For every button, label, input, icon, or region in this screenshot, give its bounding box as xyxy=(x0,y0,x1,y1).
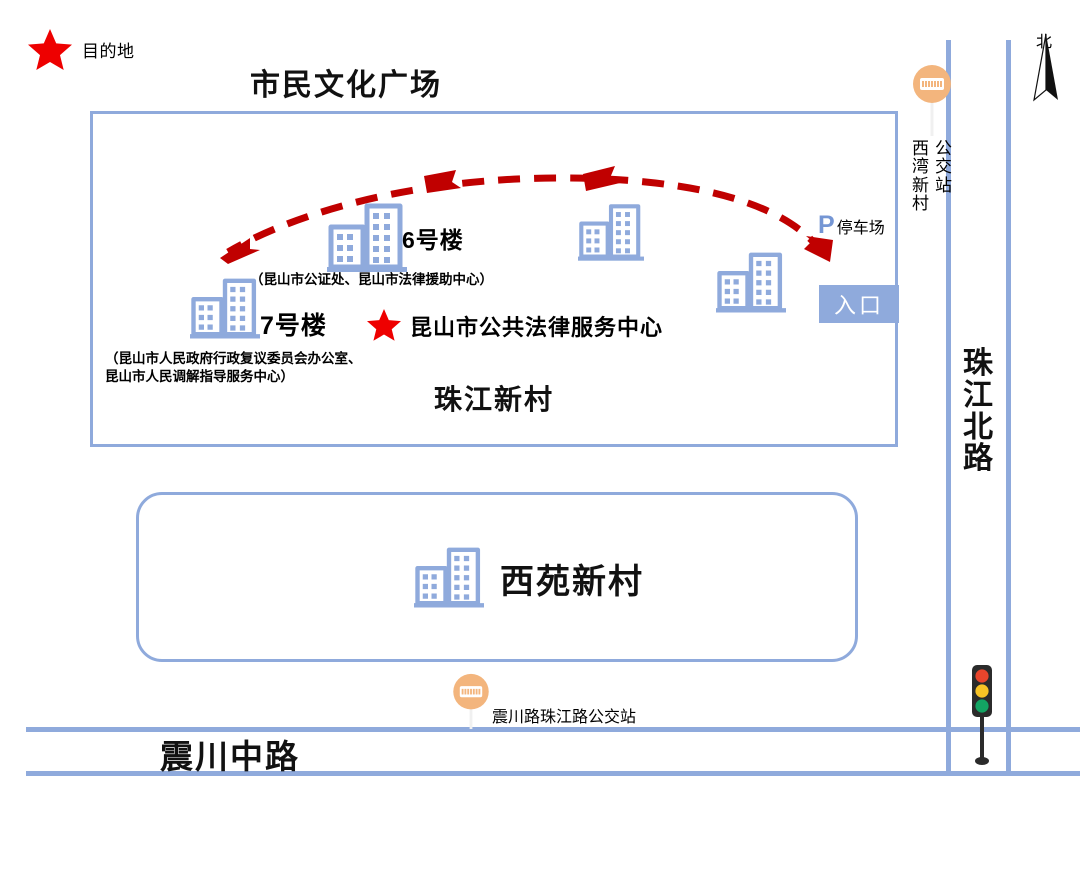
building-label-6: 6号楼 xyxy=(402,221,464,255)
building-note-7-line1: （昆山市人民政府行政复议委员会办公室、 xyxy=(105,350,362,368)
parking-p-icon: P xyxy=(818,213,835,238)
traffic-light-icon xyxy=(967,663,997,772)
parking-label: 停车场 xyxy=(837,214,885,238)
destination-star-icon xyxy=(367,308,401,341)
bus-stop-icon-zhenchuan xyxy=(452,673,490,729)
bus-stop-label-gongjiaozhan: 公 交 站 xyxy=(934,140,953,195)
building-note-6: （昆山市公证处、昆山市法律援助中心） xyxy=(250,271,493,289)
building-icon-right xyxy=(716,245,786,317)
estate-name-xiyuan: 西苑新村 xyxy=(500,554,644,603)
road-name-zhenchuan: 震川中路 xyxy=(160,730,300,778)
destination-label: 昆山市公共法律服务中心 xyxy=(410,310,663,342)
label-char: 湾 xyxy=(911,158,930,176)
building-note-7: （昆山市人民政府行政复议委员会办公室、 昆山市人民调解指导服务中心） xyxy=(105,350,362,386)
red-star-icon xyxy=(28,28,72,70)
bus-stop-icon-xiwan xyxy=(912,64,952,136)
estate-name-zhujiang: 珠江新村 xyxy=(434,378,554,418)
entrance-sign: 入口 xyxy=(819,285,899,323)
label-char: 交 xyxy=(934,158,953,176)
bus-stop-label-zhenchuan: 震川路珠江路公交站 xyxy=(492,703,636,727)
road-zhujiang-edge-right xyxy=(1006,40,1011,772)
bus-stop-label-xiwan: 西 湾 新 村 xyxy=(911,140,930,213)
label-char: 西 xyxy=(911,140,930,158)
parking-marker: P 停车场 xyxy=(818,213,885,238)
page-title-plaza: 市民文化广场 xyxy=(250,60,442,104)
road-name-char: 路 xyxy=(960,443,996,475)
legend: 目的地 xyxy=(28,28,135,70)
building-note-7-line2: 昆山市人民调解指导服务中心） xyxy=(105,368,362,386)
estate-block-xiyuan xyxy=(136,492,858,662)
building-icon-xiyuan xyxy=(414,542,484,610)
building-icon-6 xyxy=(327,200,407,272)
map-canvas: 目的地 市民文化广场 6号楼 （昆山市公证处、昆山市法律援助中心） xyxy=(0,0,1080,871)
label-char: 站 xyxy=(934,177,953,195)
road-name-char: 珠 xyxy=(960,348,996,380)
label-char: 新 xyxy=(911,177,930,195)
entrance-label: 入口 xyxy=(834,288,884,320)
building-label-7: 7号楼 xyxy=(260,306,327,342)
road-name-char: 北 xyxy=(960,412,996,444)
north-arrow-icon xyxy=(1026,30,1066,113)
road-name-char: 江 xyxy=(960,380,996,412)
label-char: 村 xyxy=(911,195,930,213)
road-name-zhujiang: 珠 江 北 路 xyxy=(960,348,996,475)
building-icon-7 xyxy=(190,273,260,341)
label-char: 公 xyxy=(934,140,953,158)
building-icon-middle xyxy=(578,192,644,270)
legend-label: 目的地 xyxy=(82,37,135,62)
